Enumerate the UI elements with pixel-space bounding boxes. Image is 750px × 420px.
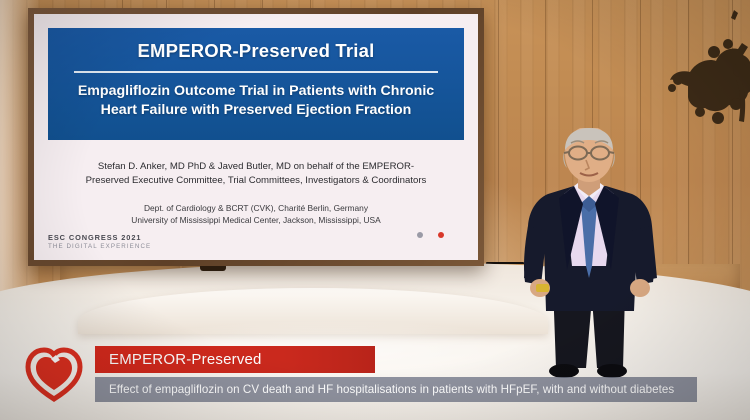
esc-congress-title: ESC CONGRESS 2021 [48, 233, 151, 242]
lower-third-title-bar: EMPEROR-Preserved [95, 346, 375, 373]
screen-mount [200, 266, 226, 271]
lower-third-title: EMPEROR-Preserved [95, 351, 262, 368]
presentation-clicker [536, 284, 549, 292]
esc-congress-tagline: THE DIGITAL EXPERIENCE [48, 243, 151, 250]
slide-title: EMPEROR-Preserved Trial [48, 40, 464, 62]
presentation-screen: EMPEROR-Preserved Trial Empagliflozin Ou… [28, 8, 484, 266]
slide-affiliations: Dept. of Cardiology & BCRT (CVK), Charit… [60, 202, 452, 226]
esc-heart-logo-icon [24, 345, 84, 403]
slide-subtitle-line-1: Empagliflozin Outcome Trial in Patients … [78, 83, 434, 99]
esc-congress-logo: ESC CONGRESS 2021 THE DIGITAL EXPERIENCE [48, 233, 151, 250]
slide-authors: Stefan D. Anker, MD PhD & Javed Butler, … [60, 160, 452, 187]
slide: EMPEROR-Preserved Trial Empagliflozin Ou… [34, 14, 478, 260]
authors-line-2: Preserved Executive Committee, Trial Com… [86, 175, 427, 186]
speaker [500, 128, 680, 388]
authors-line-1: Stefan D. Anker, MD PhD & Javed Butler, … [98, 161, 414, 172]
slide-subtitle: Empagliflozin Outcome Trial in Patients … [48, 82, 464, 120]
dot-red [438, 232, 444, 238]
video-frame: EMPEROR-Preserved Trial Empagliflozin Ou… [0, 0, 750, 420]
title-divider [74, 71, 438, 73]
slide-title-box: EMPEROR-Preserved Trial Empagliflozin Ou… [48, 28, 464, 140]
dot-grey [417, 232, 423, 238]
slide-subtitle-line-2: Heart Failure with Preserved Ejection Fr… [101, 102, 412, 118]
lower-third-subtitle-bar: Effect of empagliflozin on CV death and … [95, 377, 697, 402]
affiliation-line-1: Dept. of Cardiology & BCRT (CVK), Charit… [144, 203, 368, 213]
affiliation-line-2: University of Mississippi Medical Center… [131, 215, 380, 225]
lower-third-subtitle: Effect of empagliflozin on CV death and … [95, 383, 674, 396]
